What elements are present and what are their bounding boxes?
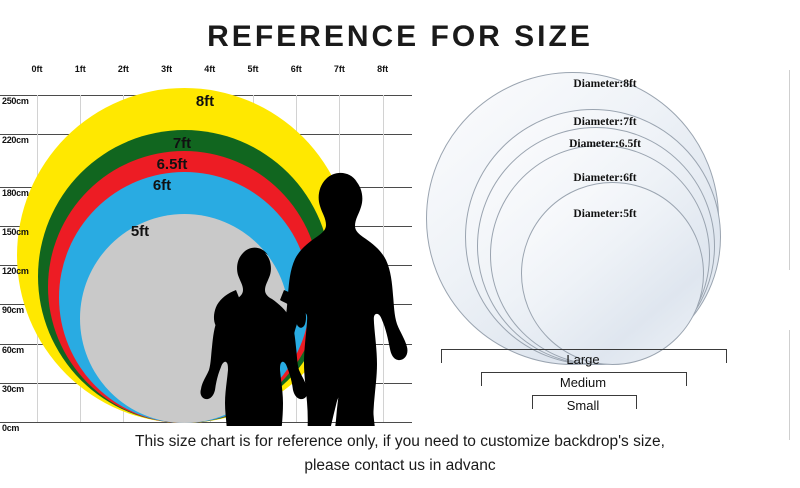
y-axis-tick-label: 220cm (2, 135, 29, 145)
x-axis-tick-label: 7ft (334, 64, 345, 74)
size-reference-chart: REFERENCE FOR SIZE (0, 0, 800, 488)
ring-label-6p5ft: 6.5ft (157, 156, 188, 173)
y-axis-tick-label: 30cm (2, 384, 24, 394)
page-title: REFERENCE FOR SIZE (0, 20, 800, 54)
disc-label-5ft: Diameter:5ft (573, 208, 636, 220)
bracket-label-large: Large (566, 352, 599, 367)
x-axis-tick-label: 3ft (161, 64, 172, 74)
y-axis-tick-label: 150cm (2, 227, 29, 237)
y-axis-tick-label: 250cm (2, 96, 29, 106)
ring-label-7ft: 7ft (173, 135, 191, 152)
caption-line-2: please contact us in advanc (0, 454, 800, 478)
y-axis-tick-label: 90cm (2, 305, 24, 315)
x-axis-tick-label: 1ft (75, 64, 86, 74)
right-disc-panel: Diameter:8ft Diameter:7ft Diameter:6.5ft… (420, 62, 800, 432)
ring-label-8ft: 8ft (196, 93, 214, 110)
y-axis-tick-label: 180cm (2, 188, 29, 198)
right-edge-line-lower (789, 330, 790, 440)
ring-label-5ft: 5ft (131, 223, 149, 240)
footer-caption: This size chart is for reference only, i… (0, 430, 800, 478)
bracket-label-medium: Medium (560, 375, 606, 390)
x-axis-tick-label: 8ft (377, 64, 388, 74)
disc-label-6p5ft: Diameter:6.5ft (569, 138, 641, 150)
ring-label-6ft: 6ft (153, 177, 171, 194)
x-axis-tick-label: 4ft (204, 64, 215, 74)
right-edge-line (789, 70, 790, 270)
disc-label-8ft: Diameter:8ft (573, 78, 636, 90)
disc-label-7ft: Diameter:7ft (573, 116, 636, 128)
x-axis-tick-label: 5ft (248, 64, 259, 74)
people-silhouettes (0, 78, 415, 426)
x-axis-tick-label: 6ft (291, 64, 302, 74)
y-axis-tick-label: 120cm (2, 266, 29, 276)
x-axis-tick-label: 2ft (118, 64, 129, 74)
x-axis-tick-label: 0ft (32, 64, 43, 74)
caption-line-1: This size chart is for reference only, i… (0, 430, 800, 454)
disc-label-6ft: Diameter:6ft (573, 172, 636, 184)
y-axis-tick-label: 60cm (2, 345, 24, 355)
left-scale-chart: 8ft 7ft 6.5ft 6ft 5ft 250cm220cm180cm150… (0, 78, 415, 426)
bracket-label-small: Small (567, 398, 600, 413)
